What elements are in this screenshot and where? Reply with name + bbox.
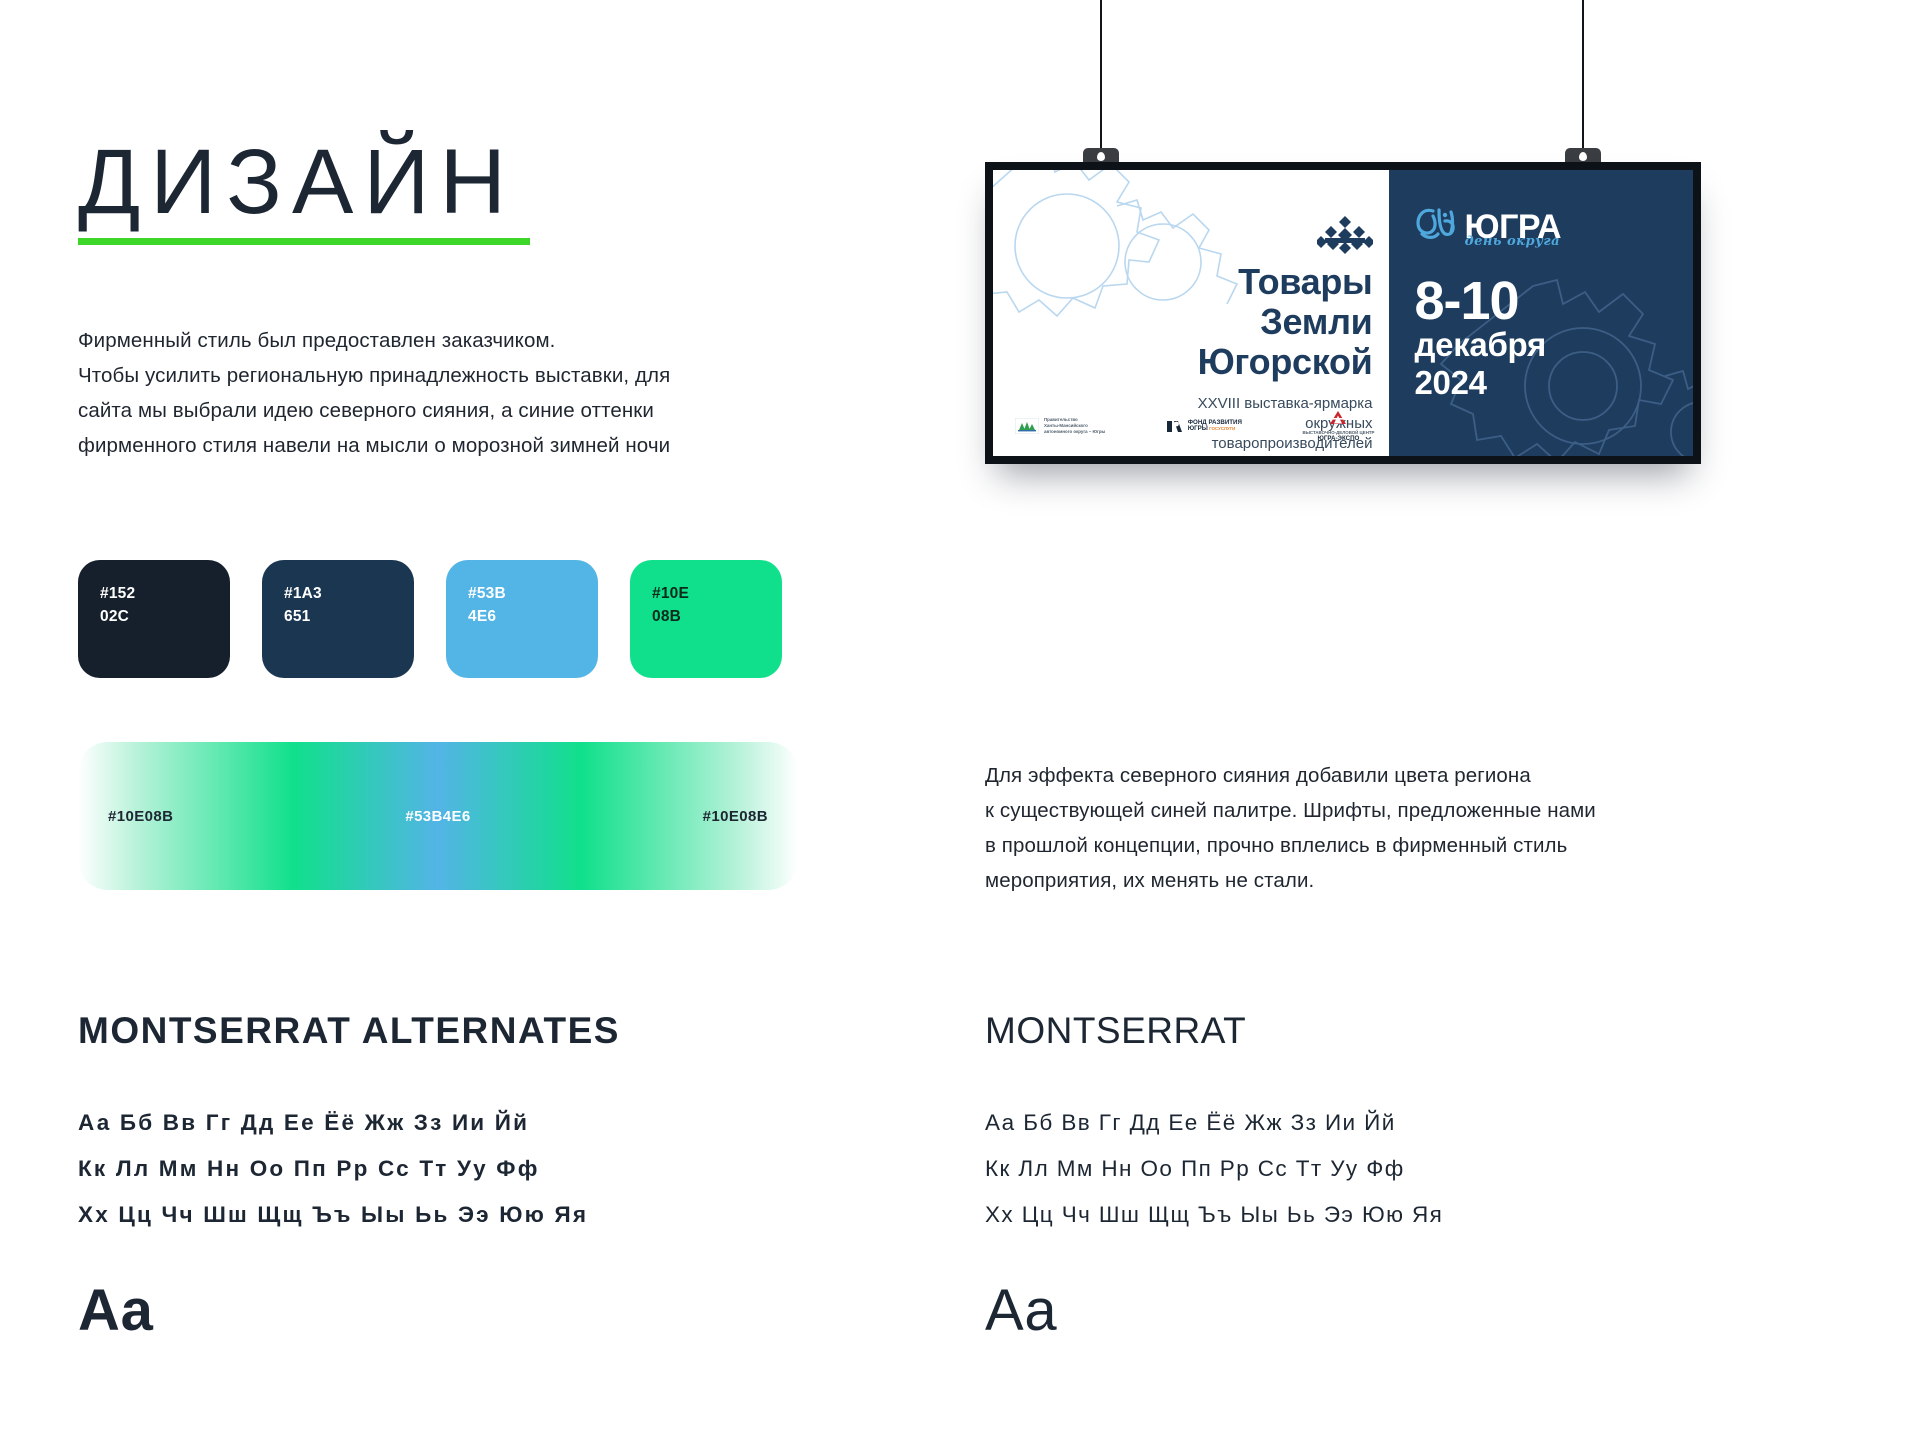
paragraph-line: сайта мы выбрали идею северного сияния, … — [78, 393, 738, 428]
alphabet-row: Кк Лл Мм Нн Оо Пп Рр Сс Тт Уу Фф — [78, 1146, 838, 1192]
yugra-ornament-icon — [1317, 216, 1373, 256]
hanging-wire-left — [1100, 0, 1102, 160]
typography-block-alternates: MONTSERRAT ALTERNATES Аа Бб Вв Гг Дд Ее … — [78, 1010, 838, 1340]
hmao-coat-of-arms-icon — [1015, 418, 1039, 434]
logo-government-hmao: Правительство Ханты-Мансийского автономн… — [1015, 417, 1105, 435]
logo-line: ЮГРА-ЭКСПО — [1302, 436, 1374, 442]
logo-line: ЮГРЫ — [1188, 425, 1208, 432]
poster-date-range: 8-10 — [1415, 276, 1678, 326]
gradient-label-right: #10E08B — [703, 808, 768, 825]
alphabet-row: Хх Цц Чч Шш Щщ Ъъ Ыы Ьь Ээ Юю Яя — [78, 1192, 838, 1238]
left-description-paragraph: Фирменный стиль был предоставлен заказчи… — [78, 323, 738, 463]
yugra-wordmark: ЮГРА день округа — [1465, 212, 1562, 242]
yugra-expo-mark-icon — [1328, 410, 1348, 425]
swatch-hex-line1: #53B — [468, 582, 598, 605]
alphabet-row: Кк Лл Мм Нн Оо Пп Рр Сс Тт Уу Фф — [985, 1146, 1805, 1192]
hanging-wire-right — [1582, 0, 1584, 160]
right-description-paragraph: Для эффекта северного сияния добавили цв… — [985, 758, 1596, 898]
alphabet-rows: Аа Бб Вв Гг Дд Ее Ёё Жж Зз Ии Йй Кк Лл М… — [78, 1100, 838, 1238]
paragraph-line: фирменного стиля навели на мысли о мороз… — [78, 428, 738, 463]
font-sample-aa: Аа — [985, 1282, 1805, 1340]
poster-white-panel: Товары Земли Югорской XXVIII выставка-яр… — [993, 170, 1389, 456]
right-column: Товары Земли Югорской XXVIII выставка-яр… — [985, 0, 1865, 1456]
paragraph-line: к существующей синей палитре. Шрифты, пр… — [985, 793, 1596, 828]
paragraph-line: Чтобы усилить региональную принадлежност… — [78, 358, 738, 393]
paragraph-line: Для эффекта северного сияния добавили цв… — [985, 758, 1596, 793]
poster-blue-panel: ЮГРА день округа 8-10 декабря 2024 — [1389, 170, 1694, 456]
swatch-sky-blue: #53B 4E6 — [446, 560, 598, 678]
logo-line: автономного округа – Югры — [1044, 429, 1105, 435]
partner-logos-row: Правительство Ханты-Мансийского автономн… — [1015, 410, 1375, 442]
yugra-brand-logo: ЮГРА день округа — [1415, 206, 1678, 242]
logo-yugra-expo: ВЫСТАВОЧНО-ДЕЛОВОЙ ЦЕНТР ЮГРА-ЭКСПО — [1302, 410, 1374, 442]
swatch-hex-line1: #1A3 — [284, 582, 414, 605]
design-presentation-slide: ДИЗАЙН Фирменный стиль был предоставлен … — [0, 0, 1919, 1456]
logo-expo-text: ВЫСТАВОЧНО-ДЕЛОВОЙ ЦЕНТР ЮГРА-ЭКСПО — [1302, 430, 1374, 442]
yugra-script-text: день округа — [1465, 227, 1560, 257]
paragraph-line: в прошлой концепции, прочно вплелись в ф… — [985, 828, 1596, 863]
left-column: ДИЗАЙН Фирменный стиль был предоставлен … — [78, 0, 898, 1456]
gradient-bar: #10E08B #53B4E6 #10E08B — [78, 742, 798, 890]
swatch-hex-line1: #152 — [100, 582, 230, 605]
color-swatch-row: #152 02C #1A3 651 #53B 4E6 #10E 08B — [78, 560, 782, 678]
logo-government-text: Правительство Ханты-Мансийского автономн… — [1044, 417, 1105, 435]
gradient-label-left: #10E08B — [108, 808, 173, 825]
poster-date-year: 2024 — [1415, 364, 1678, 402]
poster-title: Товары Земли Югорской — [1043, 262, 1373, 382]
poster-artwork: Товары Земли Югорской XXVIII выставка-яр… — [993, 170, 1693, 456]
poster-title-line: Товары — [1043, 262, 1373, 302]
paragraph-line: мероприятия, их менять не стали. — [985, 863, 1596, 898]
font-family-name: MONTSERRAT — [985, 1010, 1805, 1052]
poster-ornament-wrap — [1043, 216, 1373, 256]
fond-mark-icon — [1166, 419, 1183, 434]
alphabet-rows: Аа Бб Вв Гг Дд Ее Ёё Жж Зз Ии Йй Кк Лл М… — [985, 1100, 1805, 1238]
swatch-hex-line2: 02C — [100, 605, 230, 628]
swatch-green: #10E 08B — [630, 560, 782, 678]
poster-title-line: Югорской — [1043, 342, 1373, 382]
poster-mockup-frame: Товары Земли Югорской XXVIII выставка-яр… — [985, 162, 1701, 464]
font-family-name: MONTSERRAT ALTERNATES — [78, 1010, 838, 1052]
swatch-hex-line2: 651 — [284, 605, 414, 628]
swatch-hex-line2: 08B — [652, 605, 782, 628]
font-sample-aa: Аа — [78, 1282, 838, 1340]
swatch-deep-blue: #1A3 651 — [262, 560, 414, 678]
poster-date-block: ЮГРА день округа 8-10 декабря 2024 — [1415, 206, 1678, 402]
poster-title-line: Земли — [1043, 302, 1373, 342]
logo-fond-text: ФОНД РАЗВИТИЯ ЮГРЫ ГОСУСЛУГИ — [1188, 420, 1242, 432]
paragraph-line: Фирменный стиль был предоставлен заказчи… — [78, 323, 738, 358]
alphabet-row: Аа Бб Вв Гг Дд Ее Ёё Жж Зз Ии Йй — [985, 1100, 1805, 1146]
alphabet-row: Хх Цц Чч Шш Щщ Ъъ Ыы Ьь Ээ Юю Яя — [985, 1192, 1805, 1238]
poster-date-month: декабря — [1415, 326, 1678, 364]
logo-fond-razvitiya-yugry: ФОНД РАЗВИТИЯ ЮГРЫ ГОСУСЛУГИ — [1166, 419, 1242, 434]
alphabet-row: Аа Бб Вв Гг Дд Ее Ёё Жж Зз Ии Йй — [78, 1100, 838, 1146]
yugra-monogram-icon — [1415, 206, 1461, 242]
swatch-dark-navy: #152 02C — [78, 560, 230, 678]
title-underline-accent — [78, 238, 530, 245]
page-title: ДИЗАЙН — [78, 136, 898, 228]
swatch-hex-line1: #10E — [652, 582, 782, 605]
swatch-hex-line2: 4E6 — [468, 605, 598, 628]
typography-block-montserrat: MONTSERRAT Аа Бб Вв Гг Дд Ее Ёё Жж Зз Ии… — [985, 1010, 1805, 1340]
gradient-label-middle: #53B4E6 — [405, 808, 470, 825]
logo-tag: ГОСУСЛУГИ — [1209, 426, 1235, 431]
